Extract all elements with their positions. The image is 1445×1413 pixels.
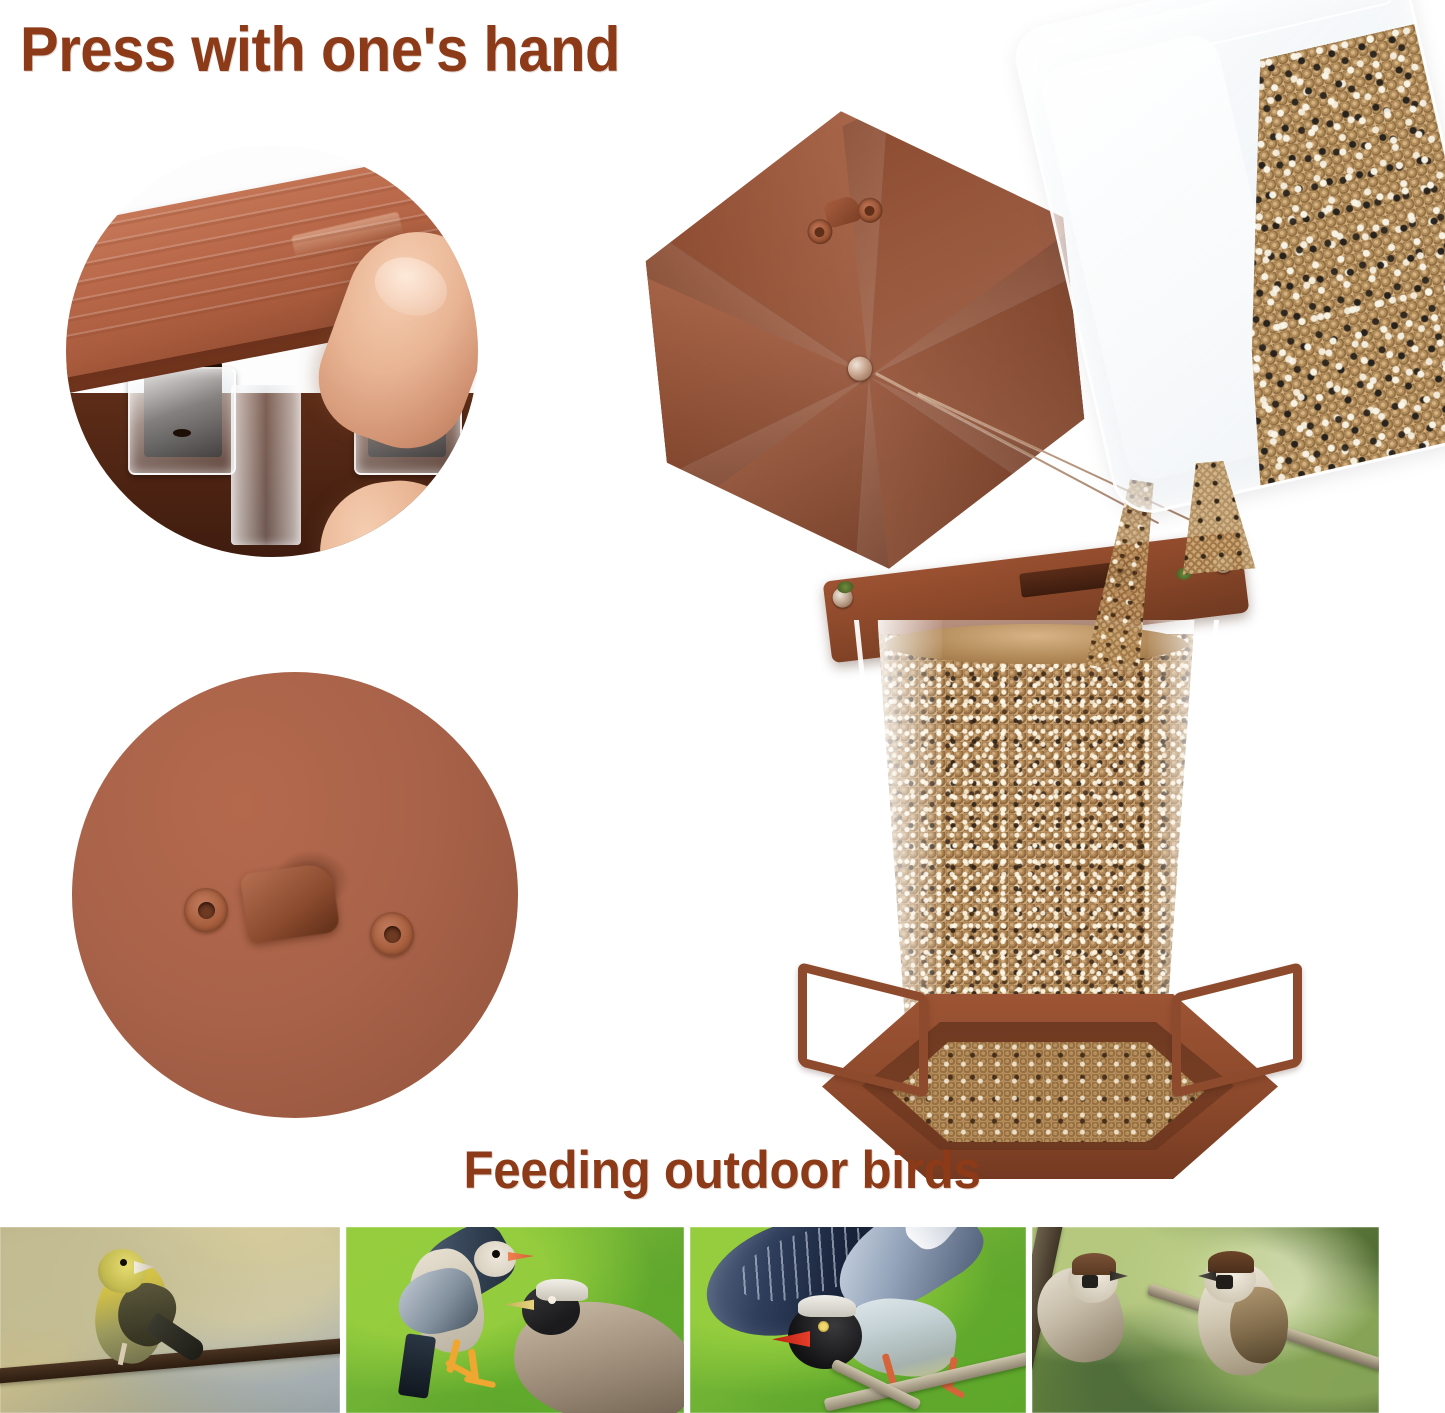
hanging-hook: [240, 862, 341, 944]
section-caption: Feeding outdoor birds: [0, 1140, 1445, 1201]
bird-eye: [818, 1321, 829, 1332]
roof-eyelet-left: [806, 218, 833, 245]
roof-facets: [632, 89, 1098, 590]
photo-greenfinch: [0, 1227, 340, 1413]
bird-cap: [1072, 1253, 1116, 1275]
photo-sparrows: [1032, 1227, 1379, 1413]
bird-crown-second: [536, 1279, 588, 1301]
page-title: Press with one's hand: [20, 14, 620, 86]
fingernail: [367, 248, 456, 326]
bird-eye-second: [548, 1296, 556, 1304]
product-infographic: Press with one's hand: [0, 0, 1445, 1413]
perch-rail-right: [1172, 962, 1302, 1098]
press-scene: [66, 145, 478, 557]
perch-rail-left: [798, 962, 928, 1098]
plastic-clip: [128, 367, 236, 475]
bird-eye: [492, 1250, 500, 1258]
tray-seed-layer: [892, 1042, 1204, 1142]
bird-cheek-patch: [1082, 1275, 1098, 1288]
clip-post: [231, 385, 301, 545]
photo-starlings: [346, 1227, 684, 1413]
bird-photo-strip: [0, 1227, 1445, 1413]
photo-blue-magpie: [690, 1227, 1026, 1413]
eyelet-hole-right: [370, 912, 414, 956]
bird-cheek-patch-second: [1216, 1275, 1233, 1289]
section-caption-text: Feeding outdoor birds: [464, 1140, 981, 1201]
bird-crown: [798, 1295, 856, 1317]
feeder-roof: [632, 89, 1098, 590]
bird-cap-second: [1208, 1251, 1254, 1273]
eyelet-hole-left: [184, 888, 228, 932]
inset-lid-top-detail: [72, 672, 518, 1118]
bird-legs: [444, 1339, 510, 1389]
roof-eyelet-right: [856, 197, 883, 224]
clip-hole: [173, 429, 191, 437]
bird-eye: [120, 1259, 127, 1266]
inset-press-detail: [66, 145, 478, 557]
